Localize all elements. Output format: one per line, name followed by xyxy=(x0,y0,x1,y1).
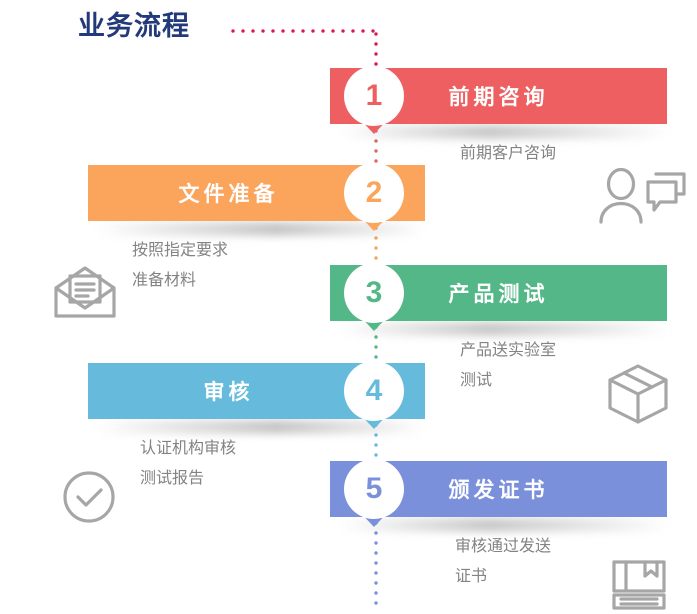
step-4-circle: 4 xyxy=(344,361,404,421)
step-5-node[interactable]: 5 xyxy=(344,459,404,519)
step-2-label: 文件准备 xyxy=(179,178,279,208)
step-5-label: 颁发证书 xyxy=(449,474,549,504)
step-1-circle: 1 xyxy=(344,66,404,126)
step-3-node[interactable]: 3 xyxy=(344,263,404,323)
step-2-circle: 2 xyxy=(344,163,404,223)
check-circle-icon xyxy=(62,470,116,524)
step-4-number: 4 xyxy=(366,376,383,406)
business-flow-infographic: 业务流程 前期咨询 1 前期客户咨询 文件准备 2 按照指定要求 准备材料 产品… xyxy=(0,0,697,614)
envelope-icon xyxy=(54,266,116,320)
step-4-node[interactable]: 4 xyxy=(344,361,404,421)
page-title: 业务流程 xyxy=(78,4,190,43)
step-2-node[interactable]: 2 xyxy=(344,163,404,223)
step-3-label: 产品测试 xyxy=(449,278,549,308)
step-4-label: 审核 xyxy=(204,376,254,406)
step-3-description: 产品送实验室 测试 xyxy=(460,336,660,396)
step-3-circle: 3 xyxy=(344,263,404,323)
step-5-number: 5 xyxy=(366,474,383,504)
step-2-number: 2 xyxy=(366,178,383,208)
step-1-node[interactable]: 1 xyxy=(344,66,404,126)
step-4-description: 认证机构审核 测试报告 xyxy=(140,434,350,494)
step-1-number: 1 xyxy=(366,81,383,111)
step-1-label: 前期咨询 xyxy=(449,81,549,111)
connector-title-horizontal xyxy=(228,29,378,33)
step-1-description: 前期客户咨询 xyxy=(460,139,660,169)
connector-title-vertical xyxy=(374,29,378,69)
step-2-description: 按照指定要求 准备材料 xyxy=(132,236,342,296)
step-5-circle: 5 xyxy=(344,459,404,519)
person-chat-icon xyxy=(598,168,688,224)
step-3-number: 3 xyxy=(366,278,383,308)
step-5-description: 审核通过发送 证书 xyxy=(455,532,655,592)
